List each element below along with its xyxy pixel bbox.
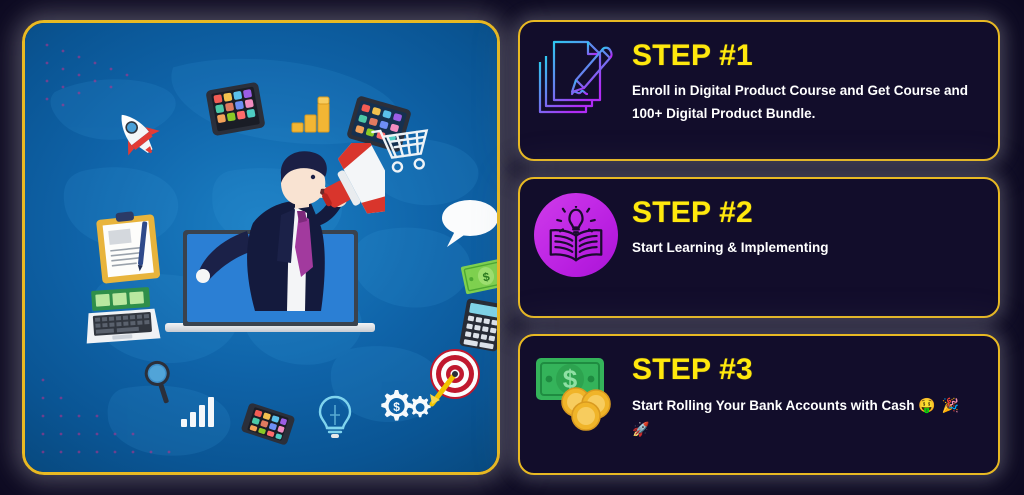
step-card-3-text: STEP #3 Start Rolling Your Bank Accounts…: [632, 350, 982, 441]
target-arrow-icon: [424, 348, 486, 410]
step-3-description-text: Start Rolling Your Bank Accounts with Ca…: [632, 398, 915, 413]
step-3-title: STEP #3: [632, 354, 982, 386]
step-card-1-text: STEP #1 Enroll in Digital Product Course…: [632, 36, 982, 125]
step-3-description: Start Rolling Your Bank Accounts with Ca…: [632, 393, 982, 441]
step-2-title: STEP #2: [632, 197, 982, 229]
step-card-3[interactable]: $ STEP #3 Start Rolling Your: [518, 334, 1000, 475]
book-lightbulb-icon-background: [534, 193, 618, 277]
gear-dollar-icon: $: [375, 386, 431, 428]
step-card-2[interactable]: STEP #2 Start Learning & Implementing: [518, 177, 1000, 318]
illustration-canvas: $: [25, 23, 497, 472]
clipboard-icon: [93, 208, 162, 286]
document-pen-icon: [534, 36, 618, 120]
coin-stack-icon: [290, 93, 338, 135]
money-coins-icon: $: [534, 350, 618, 434]
step-1-title: STEP #1: [632, 40, 982, 72]
step-1-description: Enroll in Digital Product Course and Get…: [632, 79, 982, 125]
svg-text:$: $: [393, 400, 400, 414]
hero-illustration-panel: $: [22, 20, 500, 475]
book-lightbulb-icon: [534, 193, 618, 277]
steps-list: STEP #1 Enroll in Digital Product Course…: [518, 20, 1002, 475]
step-card-2-text: STEP #2 Start Learning & Implementing: [632, 193, 982, 259]
step-card-1[interactable]: STEP #1 Enroll in Digital Product Course…: [518, 20, 1000, 161]
speech-bubble-icon: [437, 195, 497, 253]
tablet-apps-icon: [204, 81, 266, 138]
steps-section: $: [0, 0, 1024, 495]
businessman-with-megaphone: [195, 143, 385, 333]
laptop-money-icon: [81, 284, 161, 351]
lightbulb-icon: [318, 395, 352, 439]
step-2-description: Start Learning & Implementing: [632, 236, 982, 259]
bar-chart-icon: [180, 393, 222, 427]
